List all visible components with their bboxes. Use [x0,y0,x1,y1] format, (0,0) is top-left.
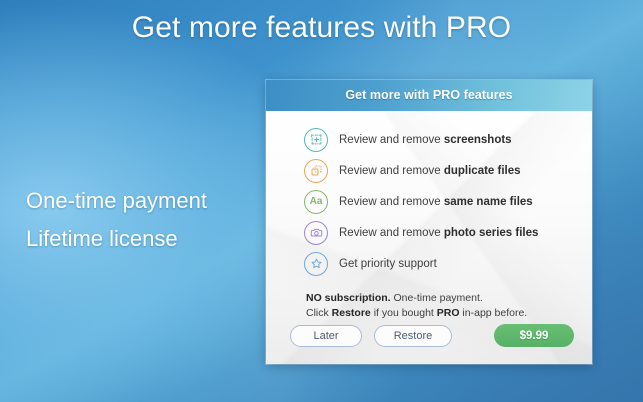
purchase-price-button[interactable]: $9.99 [494,324,574,347]
priority-support-star-icon [304,252,328,276]
left-copy-line-2: Lifetime license [26,220,207,258]
left-copy-block: One-time payment Lifetime license [26,182,207,258]
feature-label-priority-support: Get priority support [339,258,437,270]
feature-label-photo-series: Review and remove photo series files [339,227,538,239]
photo-series-camera-icon [304,221,328,245]
pro-upgrade-dialog: Get more with PRO features Review and re… [266,80,592,364]
dialog-header-title: Get more with PRO features [266,80,592,111]
note-line-1: NO subscription. One-time payment. [306,291,592,306]
purchase-note: NO subscription. One-time payment. Click… [266,279,592,321]
feature-row-priority-support: Get priority support [266,248,592,279]
feature-label-duplicates: Review and remove duplicate files [339,165,521,177]
left-copy-line-1: One-time payment [26,182,207,220]
feature-row-photo-series: Review and remove photo series files [266,217,592,248]
feature-row-screenshots: Review and remove screenshots [266,124,592,155]
same-name-aa-icon: Aa [304,190,328,214]
page-headline: Get more features with PRO [0,11,643,45]
aa-glyph: Aa [310,197,323,207]
feature-label-screenshots: Review and remove screenshots [339,134,512,146]
dialog-body: Review and remove screenshots Review and… [266,111,592,321]
screenshot-crop-icon [304,128,328,152]
feature-row-same-name: Aa Review and remove same name files [266,186,592,217]
dialog-footer: Later Restore $9.99 [266,324,592,347]
restore-button[interactable]: Restore [374,325,452,347]
duplicate-files-icon [304,159,328,183]
feature-label-same-name: Review and remove same name files [339,196,533,208]
note-line-2: Click Restore if you bought PRO in-app b… [306,306,592,321]
later-button[interactable]: Later [290,325,362,347]
feature-row-duplicates: Review and remove duplicate files [266,155,592,186]
